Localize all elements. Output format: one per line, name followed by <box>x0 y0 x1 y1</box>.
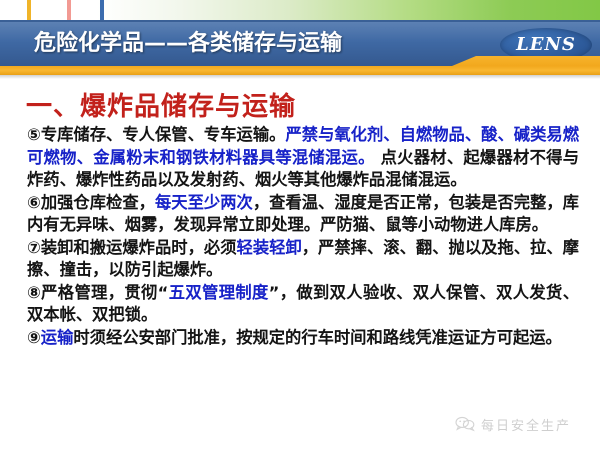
highlighted-text: 运输 <box>41 328 74 347</box>
section-heading: 一、爆炸品储存与运输 <box>26 86 296 123</box>
tick-blue-marker <box>100 0 104 20</box>
body-run: 时须经公安部门批准，按规定的行车时间和路线凭准运证方可起运。 <box>73 328 561 347</box>
highlighted-text: 轻装轻卸 <box>237 238 302 257</box>
body-run: 严格管理，贯彻“ <box>41 283 168 302</box>
item-marker: ⑥ <box>27 193 41 212</box>
tick-pink-marker <box>67 0 71 20</box>
content-item: ⑧严格管理，贯彻“五双管理制度”，做到双人验收、双人保管、双人发货、双本帐、双把… <box>27 282 579 327</box>
tick-orange-marker <box>27 0 31 20</box>
content-item: ⑥加强仓库检查，每天至少两次，查看温、湿度是否正常，包装是否完整，库内有无异味、… <box>27 192 579 237</box>
item-marker: ⑦ <box>27 238 41 257</box>
footer-watermark: 每日安全生产 <box>455 414 571 434</box>
highlighted-text: 每天至少两次 <box>155 193 253 212</box>
chat-bubble-icon <box>455 416 475 432</box>
watermark-label: 每日安全生产 <box>481 415 571 434</box>
slide-root: 危险化学品——各类储存与运输 LENS 一、爆炸品储存与运输 ⑤专库储存、专人保… <box>0 0 600 450</box>
orange-accent-bar <box>0 66 600 75</box>
body-run: 加强仓库检查， <box>41 193 155 212</box>
body-run: 装卸和搬运爆炸品时，必须 <box>41 238 237 257</box>
content-item: ⑤专库储存、专人保管、专车运输。严禁与氧化剂、自燃物品、酸、碱类易燃可燃物、金属… <box>27 124 579 192</box>
top-gradient-strip <box>0 0 600 20</box>
item-marker: ⑧ <box>27 283 41 302</box>
item-marker: ⑨ <box>27 328 41 347</box>
banner-diagonal-notch <box>452 56 600 66</box>
body-content: ⑤专库储存、专人保管、专车运输。严禁与氧化剂、自燃物品、酸、碱类易燃可燃物、金属… <box>27 124 579 349</box>
header-drop-shadow <box>0 75 600 79</box>
item-marker: ⑤ <box>27 125 41 144</box>
highlighted-text: 五双管理制度 <box>168 283 268 302</box>
content-item: ⑦装卸和搬运爆炸品时，必须轻装轻卸，严禁摔、滚、翻、抛以及拖、拉、摩擦、撞击，以… <box>27 237 579 282</box>
body-run: 专库储存、专人保管、专车运输。 <box>41 125 286 144</box>
page-title: 危险化学品——各类储存与运输 <box>34 26 342 62</box>
content-item: ⑨运输时须经公安部门批准，按规定的行车时间和路线凭准运证方可起运。 <box>27 327 579 350</box>
